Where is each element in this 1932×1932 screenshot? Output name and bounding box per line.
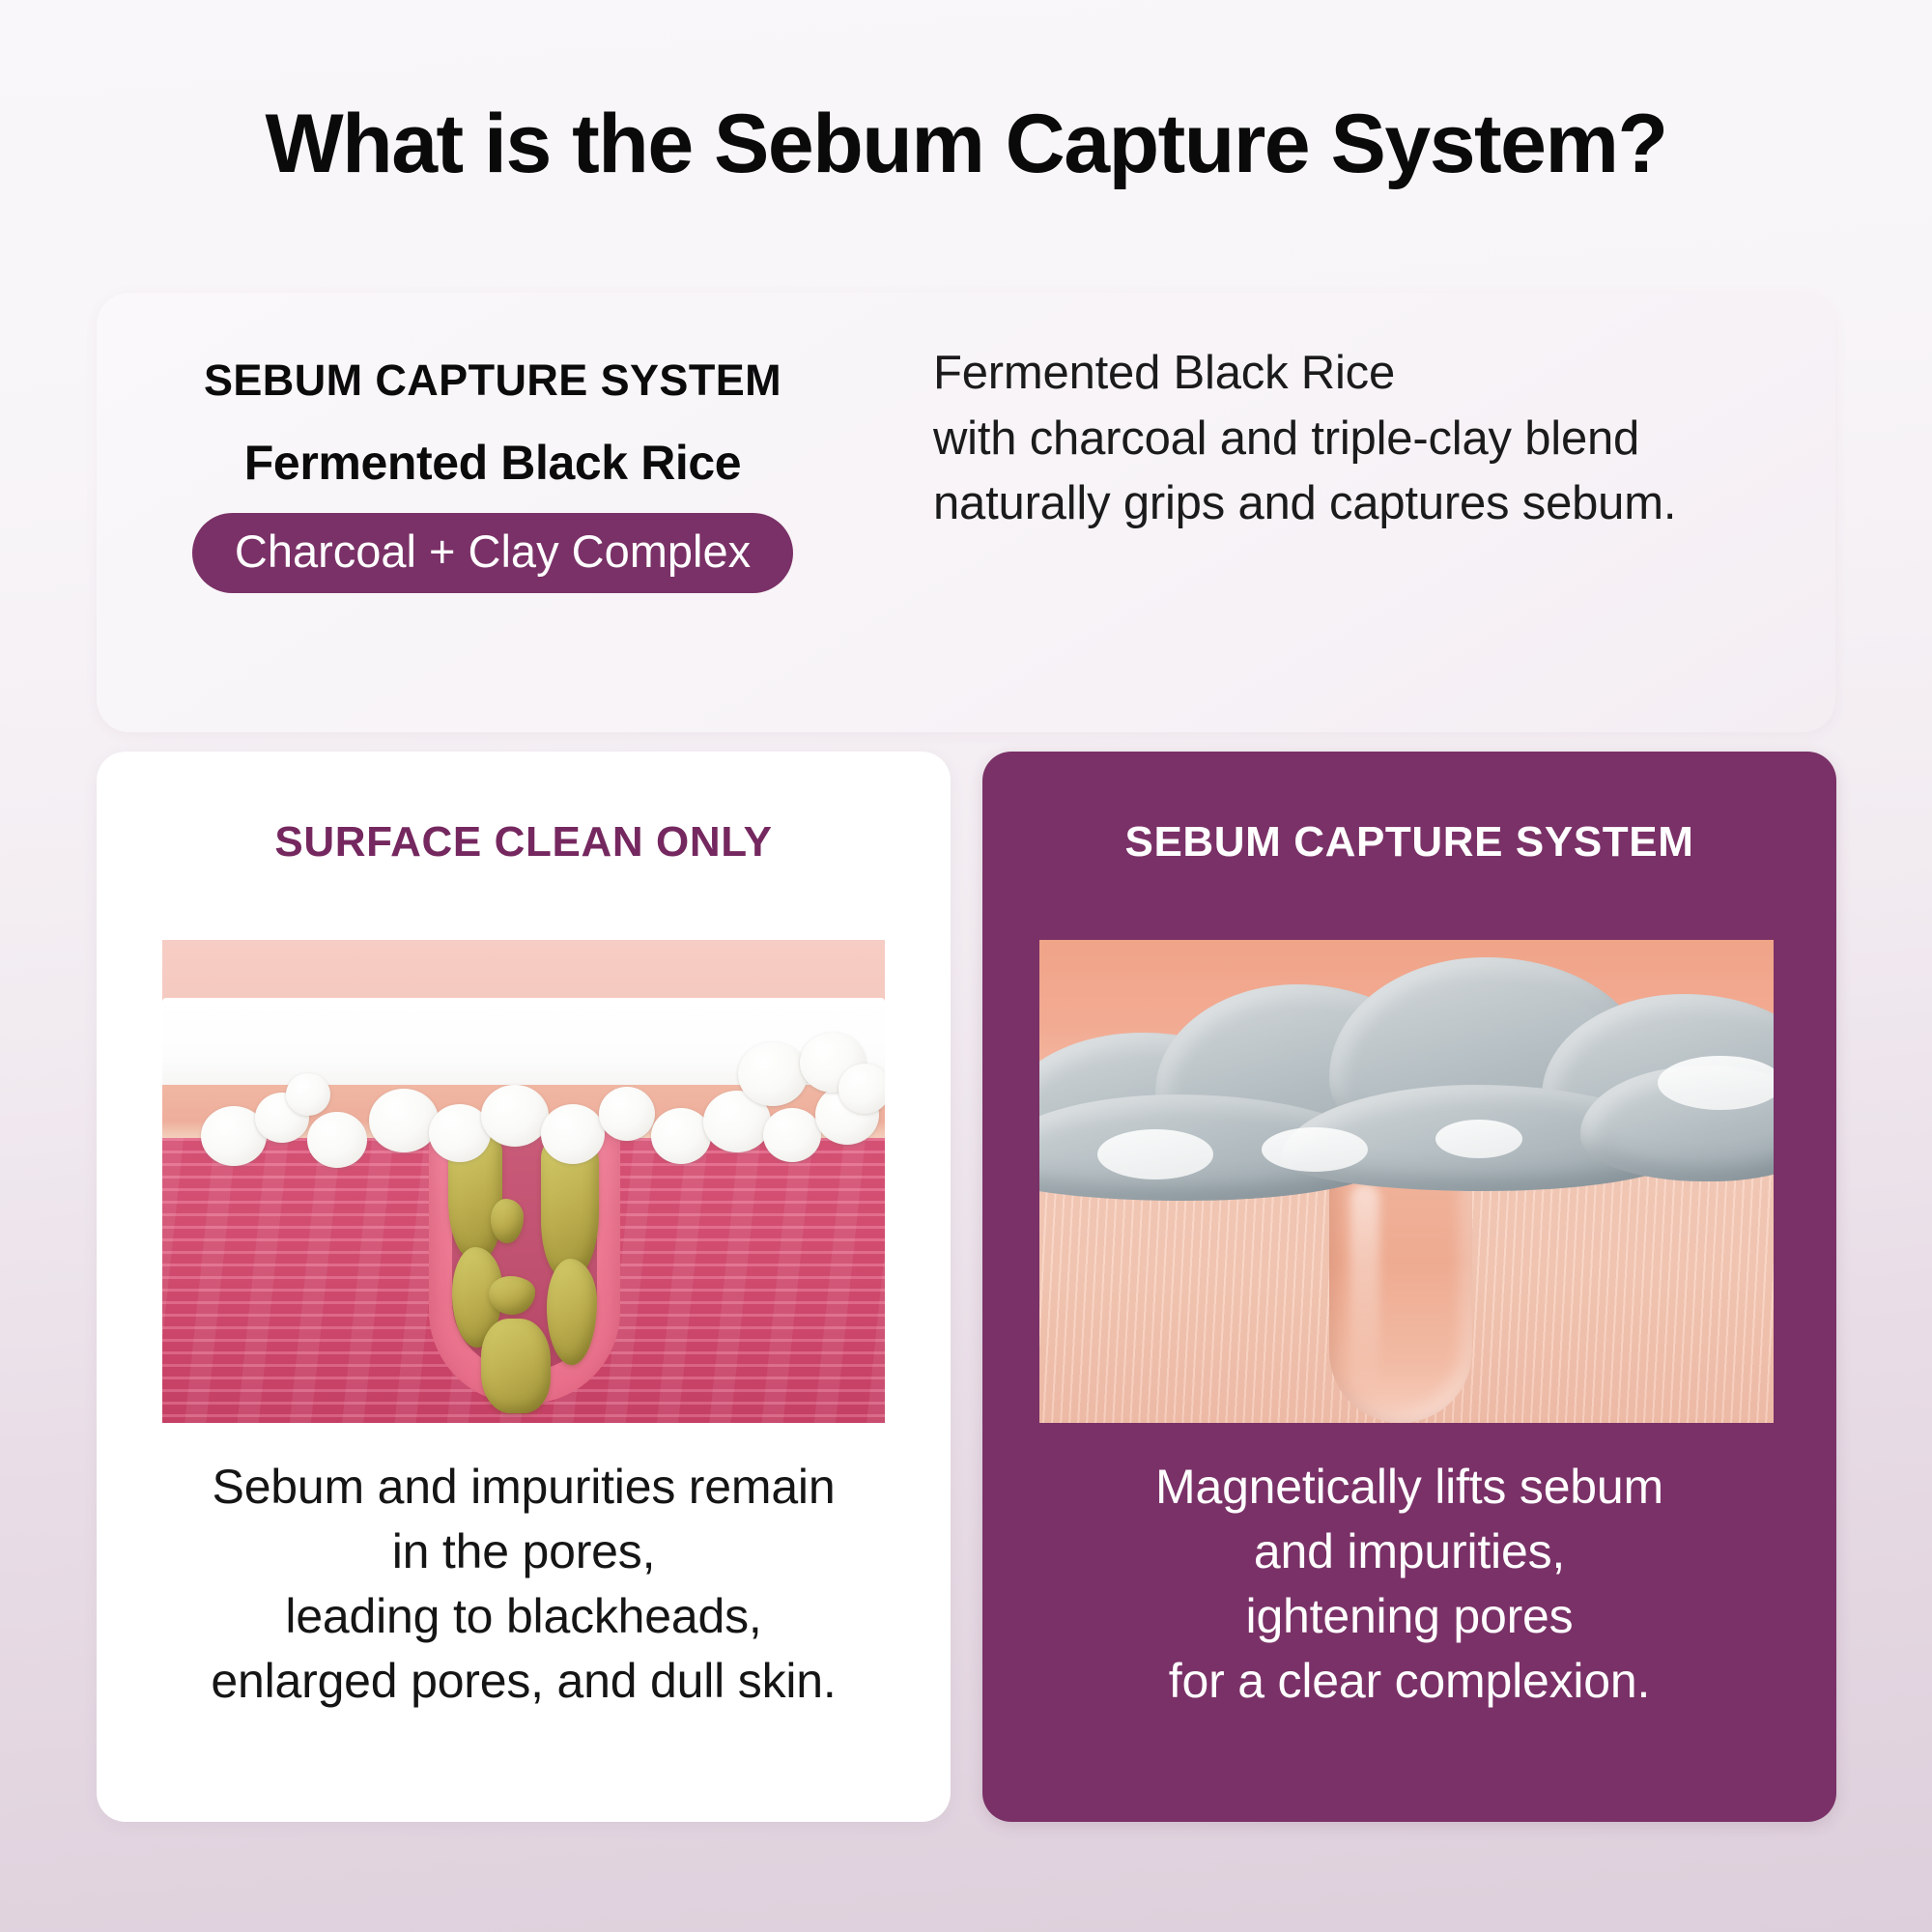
foam-bubble — [286, 1073, 330, 1116]
comparison-left-caption: Sebum and impurities remain in the pores… — [133, 1455, 914, 1714]
infographic-root: What is the Sebum Capture System? SEBUM … — [0, 0, 1932, 1932]
foam-bubble — [307, 1112, 367, 1168]
foam-bubble — [763, 1108, 821, 1162]
comparison-right-heading: SEBUM CAPTURE SYSTEM — [982, 821, 1836, 864]
system-description: Fermented Black Rice with charcoal and t… — [933, 341, 1822, 537]
system-kicker: SEBUM CAPTURE SYSTEM — [204, 358, 781, 402]
comparison-right-caption: Magnetically lifts sebum and impurities,… — [1019, 1455, 1800, 1714]
comparison-card-sebum-capture: SEBUM CAPTURE SYSTEM Magnetically lifts … — [982, 752, 1836, 1822]
caption-line: leading to blackheads, — [133, 1584, 914, 1649]
caption-line: Magnetically lifts sebum — [1019, 1455, 1800, 1520]
sebum-deposit — [481, 1319, 551, 1413]
system-overview-left-column: SEBUM CAPTURE SYSTEM Fermented Black Ric… — [126, 358, 860, 593]
system-ingredient-title: Fermented Black Rice — [244, 439, 741, 487]
foam-bubble — [541, 1104, 605, 1164]
foam-bubble — [369, 1089, 439, 1152]
caption-line: for a clear complexion. — [1019, 1649, 1800, 1714]
foam-bubble — [481, 1085, 549, 1147]
charcoal-clay-badge: Charcoal + Clay Complex — [192, 513, 793, 593]
caption-line: ightening pores — [1019, 1584, 1800, 1649]
comparison-left-heading: SURFACE CLEAN ONLY — [97, 821, 951, 864]
foam-bubble — [738, 1042, 808, 1106]
caption-line: and impurities, — [1019, 1520, 1800, 1584]
foam-bubble — [599, 1087, 655, 1141]
caption-line: Sebum and impurities remain — [133, 1455, 914, 1520]
clay-highlight — [1658, 1056, 1774, 1110]
caption-line: in the pores, — [133, 1520, 914, 1584]
description-line-3: naturally grips and captures sebum. — [933, 471, 1822, 537]
system-overview-card: SEBUM CAPTURE SYSTEM Fermented Black Ric… — [97, 293, 1835, 732]
clay-highlight — [1097, 1129, 1213, 1179]
foam-bubble — [838, 1064, 885, 1114]
clean-pore-cavity — [1329, 1154, 1472, 1423]
clean-pore-with-clay-mask-figure — [1039, 940, 1774, 1423]
page-title: What is the Sebum Capture System? — [0, 100, 1932, 187]
clay-highlight — [1435, 1120, 1522, 1158]
description-line-1: Fermented Black Rice — [933, 341, 1822, 407]
clogged-pore-cross-section-figure — [162, 940, 885, 1423]
caption-line: enlarged pores, and dull skin. — [133, 1649, 914, 1714]
comparison-card-surface-clean: SURFACE CLEAN ONLY — [97, 752, 951, 1822]
foam-bubble — [651, 1108, 711, 1164]
description-line-2: with charcoal and triple-clay blend — [933, 407, 1822, 472]
clay-highlight — [1262, 1127, 1368, 1172]
